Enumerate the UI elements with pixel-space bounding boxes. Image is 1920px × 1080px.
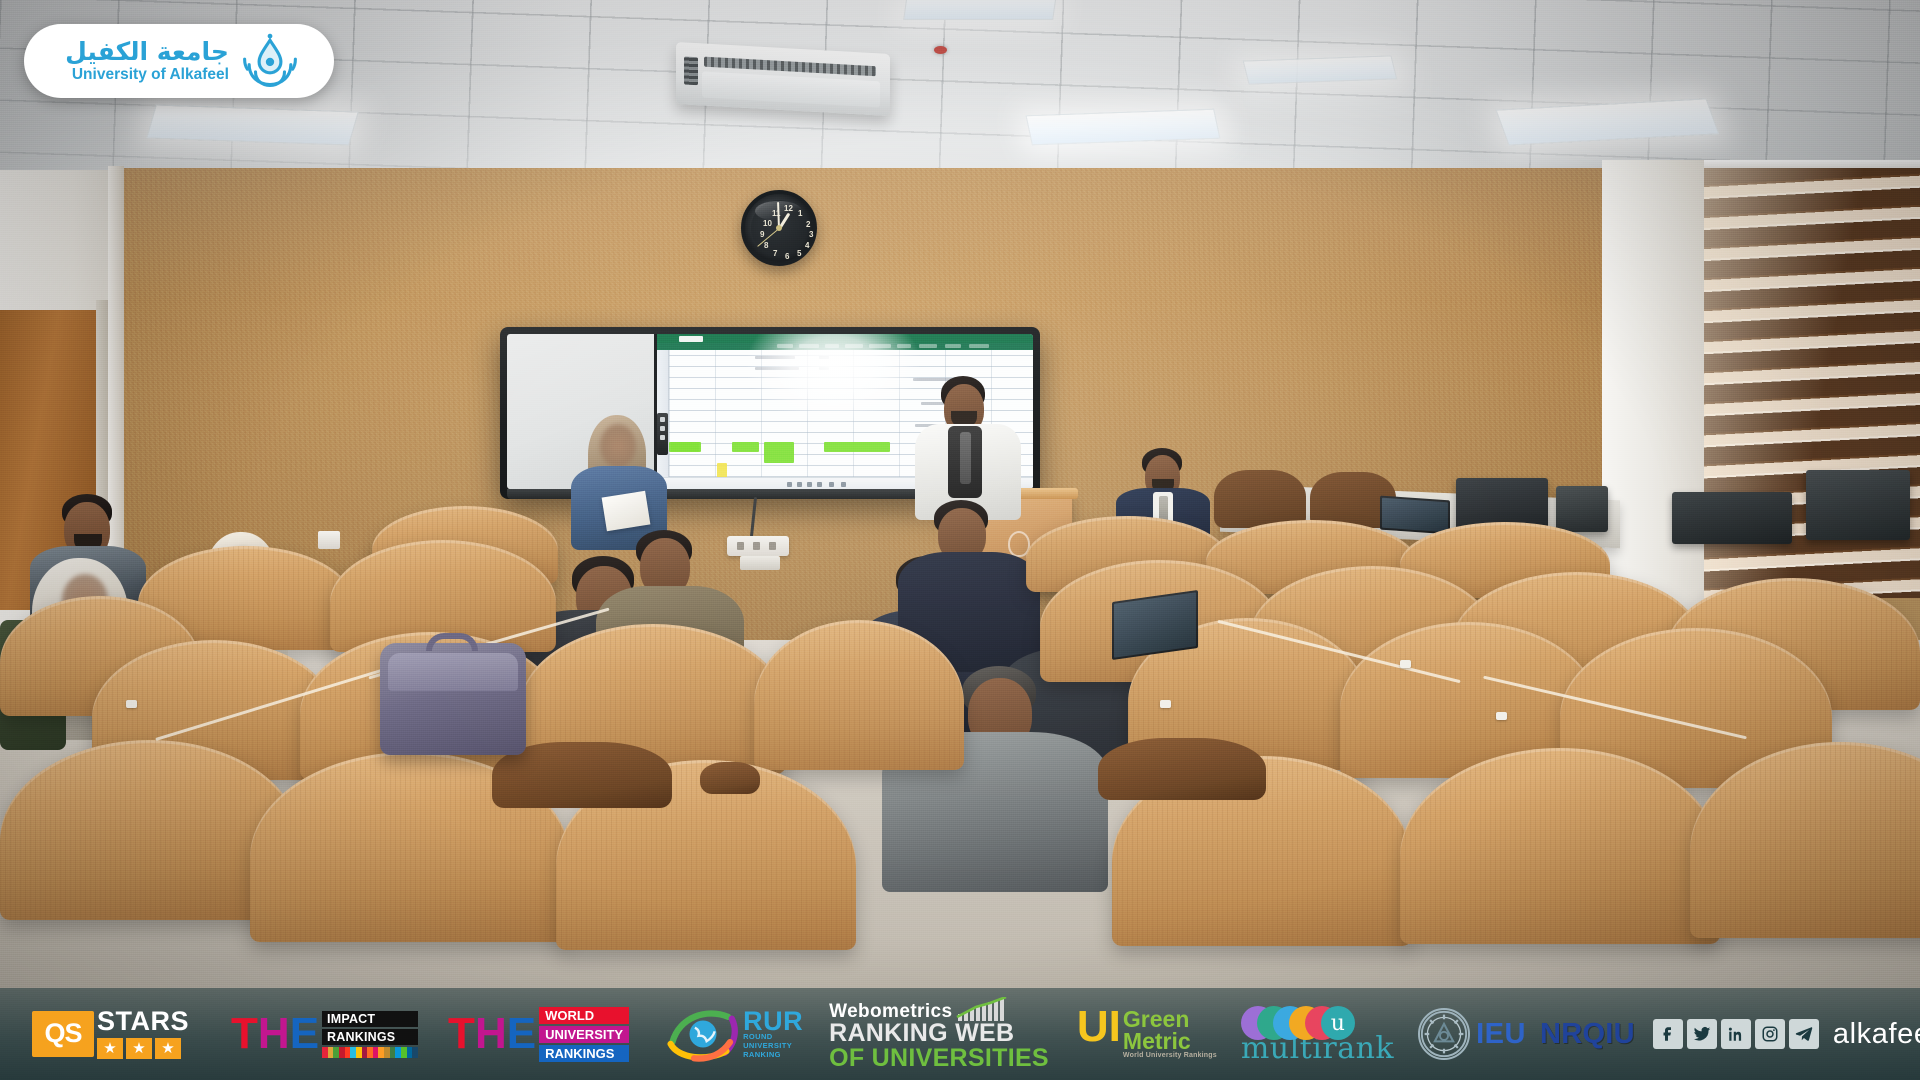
twitter-icon[interactable] [1687, 1019, 1717, 1049]
qs-stars-label: STARS [97, 1009, 189, 1035]
rur-sub-3: RANKING [743, 1051, 803, 1060]
the-letter-h: H [258, 1016, 290, 1052]
laptop-on-back-table [1380, 496, 1450, 535]
ribbon-tool [777, 344, 793, 348]
qs-star-row: ★ ★ ★ [97, 1038, 189, 1059]
clock-numeral: 5 [797, 249, 801, 258]
the-letters: T H E [231, 1016, 319, 1052]
the-letter-t: T [448, 1016, 475, 1052]
ui-greenmetric-logo[interactable]: UI Green Metric World University Ranking… [1077, 1009, 1217, 1059]
wall-outlet [727, 536, 789, 556]
smoke-detector-light [934, 46, 947, 54]
clock-numeral: 3 [809, 230, 813, 239]
clock-numeral: 7 [773, 249, 777, 258]
logo-arabic-name: جامعة الكفيل [65, 39, 229, 65]
qs-badge: QS [32, 1011, 94, 1057]
alkafeel-droplet-mark [241, 32, 299, 90]
backpack-flap [388, 653, 518, 691]
the-letter-t: T [231, 1016, 258, 1052]
clock-numeral: 6 [785, 252, 789, 261]
ieu-logo[interactable]: IEU [1418, 1008, 1526, 1060]
the-letter-h: H [475, 1016, 507, 1052]
highlighted-cell [671, 442, 701, 452]
ribbon-tool [969, 344, 989, 348]
rur-title: RUR [743, 1009, 803, 1033]
desk-fitting [1400, 660, 1411, 668]
clock-numeral: 9 [760, 230, 764, 239]
clock-center-pin [776, 225, 782, 231]
logo-english-name: University of Alkafeel [65, 67, 229, 83]
ribbon-tool [845, 344, 863, 348]
the-letter-e: E [507, 1016, 536, 1052]
chair [700, 762, 760, 794]
ribbon-tool [945, 344, 961, 348]
laptop-screen [1382, 498, 1448, 533]
metric-label: Metric [1123, 1031, 1217, 1053]
ribbon-tool [825, 344, 839, 348]
face [600, 424, 636, 468]
ranking-web-label: RANKING WEB [829, 1021, 1049, 1046]
ieu-seal-icon [1418, 1008, 1470, 1060]
ac-body [702, 71, 880, 107]
ribbon-tool [897, 344, 911, 348]
rur-eye-icon [667, 1006, 739, 1062]
highlighted-cell [824, 442, 890, 452]
greenmetric-subtitle: World University Rankings [1123, 1053, 1217, 1060]
cell-text [819, 356, 829, 359]
armchair [1214, 470, 1306, 528]
instagram-icon[interactable] [1755, 1019, 1785, 1049]
impact-label: IMPACT [322, 1011, 418, 1027]
desk-fitting [1160, 700, 1171, 708]
wall-outlet-secondary [740, 556, 780, 570]
qs-star: ★ [97, 1038, 123, 1059]
growth-chart-icon [956, 997, 1008, 1021]
sdg-color-bar [322, 1047, 418, 1058]
rankings-label: RANKINGS [539, 1045, 629, 1062]
clock-numeral: 8 [764, 241, 768, 250]
clock-glass-glare [755, 201, 803, 221]
spreadsheet-active-tab [679, 336, 703, 342]
desk-fitting [1496, 712, 1507, 720]
the-impact-rankings-logo[interactable]: T H E IMPACT RANKINGS [231, 1011, 418, 1058]
smartboard-side-buttons[interactable] [657, 413, 668, 455]
ceiling-ac-unit [676, 42, 890, 116]
lecture-hall-photo: 12 1 2 3 4 5 6 7 8 9 10 11 [0, 0, 1920, 1080]
rur-logo[interactable]: RUR ROUND UNIVERSITY RANKING [667, 1006, 803, 1062]
linkedin-icon[interactable] [1721, 1019, 1751, 1049]
backpack-strap [426, 633, 478, 651]
qs-right-block: STARS ★ ★ ★ [97, 1009, 189, 1059]
cell-text [755, 367, 799, 370]
ui-prefix: UI [1077, 1009, 1121, 1044]
the-letter-e: E [290, 1016, 319, 1052]
ribbon-tool [799, 344, 819, 348]
of-universities-label: OF UNIVERSITIES [829, 1046, 1049, 1071]
greenmetric-text-block: Green Metric World University Rankings [1123, 1009, 1217, 1059]
multirank-badge-letter: u [1321, 1006, 1355, 1040]
chair [1098, 738, 1266, 800]
wur-text-block: WORLD UNIVERSITY RANKINGS [539, 1007, 629, 1062]
highlighted-cell [732, 442, 759, 452]
webometrics-logo[interactable]: Webometrics [829, 997, 1049, 1071]
qs-label: QS [44, 1018, 81, 1049]
world-label: WORLD [539, 1007, 629, 1024]
ceiling-light-panel [903, 0, 1057, 20]
logo-text-block: جامعة الكفيل University of Alkafeel [65, 39, 229, 84]
ribbon-tool [919, 344, 937, 348]
cell-text [755, 356, 795, 359]
papers-in-hand [602, 491, 651, 531]
ac-side-vent [684, 56, 698, 85]
tie [960, 432, 971, 484]
printer-right-corner [1672, 492, 1792, 544]
wall-clock: 12 1 2 3 4 5 6 7 8 9 10 11 [741, 190, 817, 266]
social-handle: alkafeeleduiq [1833, 1018, 1920, 1051]
the-letters: T H E [448, 1016, 536, 1052]
clock-numeral: 2 [806, 220, 810, 229]
u-multirank-logo[interactable]: u multirank [1241, 1006, 1394, 1062]
logo-pill[interactable]: جامعة الكفيل University of Alkafeel [24, 24, 334, 98]
telegram-icon[interactable] [1789, 1019, 1819, 1049]
wall-light-switch[interactable] [318, 531, 340, 549]
the-impact-text-block: IMPACT RANKINGS [322, 1011, 418, 1058]
clock-numeral: 4 [805, 241, 809, 250]
university-label: UNIVERSITY [539, 1026, 629, 1043]
accreditation-footer: QS STARS ★ ★ ★ T H E IMPACT RANKINGS [0, 988, 1920, 1080]
facebook-icon[interactable] [1653, 1019, 1683, 1049]
social-icons [1653, 1019, 1819, 1049]
the-world-university-rankings-logo[interactable]: T H E WORLD UNIVERSITY RANKINGS [448, 1007, 629, 1062]
backpack-on-desk [380, 643, 526, 755]
desk-fitting [126, 700, 137, 708]
rur-text-block: RUR ROUND UNIVERSITY RANKING [743, 1009, 803, 1060]
rankings-label: RANKINGS [322, 1029, 418, 1045]
spreadsheet-titlebar [657, 334, 1033, 343]
ribbon-tool [869, 344, 891, 348]
qs-star: ★ [126, 1038, 152, 1059]
laptop-screen [1114, 592, 1196, 658]
nrqiu-wordmark: NRQIU [1540, 1018, 1635, 1051]
cabinet-right-corner [1806, 470, 1910, 540]
highlighted-cell [764, 442, 794, 463]
laptop-on-desk [1112, 590, 1198, 660]
screenshot-root: 12 1 2 3 4 5 6 7 8 9 10 11 [0, 0, 1920, 1080]
webometrics-top-row: Webometrics [829, 997, 1049, 1021]
cell-text [819, 367, 829, 370]
ceiling-light-panel [146, 104, 359, 145]
nrqiu-logo[interactable]: NRQIU [1526, 1018, 1635, 1051]
equipment-box-right [1556, 486, 1608, 532]
qs-star: ★ [155, 1038, 181, 1059]
multirank-circles: u [1241, 1006, 1345, 1040]
qs-stars-logo[interactable]: QS STARS ★ ★ ★ [32, 1009, 189, 1059]
ieu-wordmark: IEU [1476, 1018, 1526, 1051]
webometrics-text-block: Webometrics [829, 997, 1049, 1071]
